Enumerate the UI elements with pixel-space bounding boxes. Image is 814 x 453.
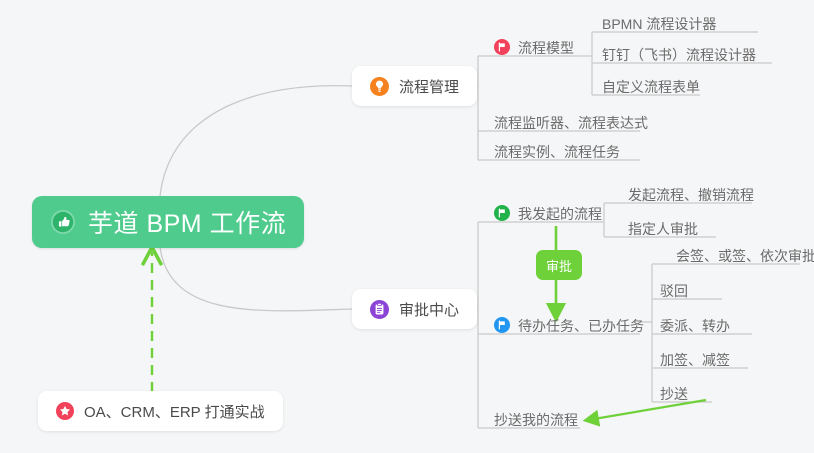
branch-label-process-management: 流程管理	[399, 76, 459, 97]
leaf-label-delegate-transfer: 委派、转办	[660, 319, 730, 333]
thumbs-up-icon	[50, 209, 76, 235]
leaf-label-custom-process-form: 自定义流程表单	[602, 80, 700, 94]
mindmap-canvas: 芋道 BPM 工作流 流程管理 流程模型 BPMN 流程设计器 钉	[0, 0, 814, 453]
leaf-node-delegate-transfer[interactable]: 委派、转办	[652, 312, 738, 338]
leaf-label-cc: 抄送	[660, 387, 688, 401]
flag-blue-icon	[494, 317, 510, 333]
leaf-label-countersign: 会签、或签、依次审批	[676, 249, 814, 263]
leaf-node-my-initiated-processes[interactable]: 我发起的流程	[486, 200, 610, 226]
leaf-label-my-initiated-processes: 我发起的流程	[518, 207, 602, 221]
leaf-node-process-listener-expression[interactable]: 流程监听器、流程表达式	[486, 109, 656, 135]
leaf-label-dingtalk-feishu-designer: 钉钉（飞书）流程设计器	[602, 48, 756, 62]
callout-badge-approval: 审批	[536, 250, 582, 280]
leaf-node-process-instance-task[interactable]: 流程实例、流程任务	[486, 138, 628, 164]
leaf-label-add-remove-signer: 加签、减签	[660, 353, 730, 367]
leaf-label-process-listener-expression: 流程监听器、流程表达式	[494, 116, 648, 130]
leaf-label-cc-to-me-processes: 抄送我的流程	[494, 413, 578, 427]
leaf-label-start-cancel-process: 发起流程、撤销流程	[628, 188, 754, 202]
wire-root-to-approval-center	[160, 247, 352, 311]
root-label: 芋道 BPM 工作流	[88, 204, 286, 240]
leaf-label-bpmn-designer: BPMN 流程设计器	[602, 17, 716, 31]
leaf-node-designated-approver[interactable]: 指定人审批	[620, 215, 706, 241]
leaf-label-process-instance-task: 流程实例、流程任务	[494, 145, 620, 159]
leaf-label-todo-done-tasks: 待办任务、已办任务	[518, 319, 644, 333]
flag-green-icon	[494, 205, 510, 221]
callout-badge-label: 审批	[546, 256, 572, 275]
footnote-label: OA、CRM、ERP 打通实战	[84, 401, 265, 422]
flag-red-icon	[494, 39, 510, 55]
clipboard-icon	[370, 300, 389, 319]
branch-node-approval-center[interactable]: 审批中心	[352, 289, 477, 329]
leaf-node-custom-process-form[interactable]: 自定义流程表单	[594, 73, 708, 99]
leaf-node-todo-done-tasks[interactable]: 待办任务、已办任务	[486, 312, 652, 338]
footnote-node[interactable]: OA、CRM、ERP 打通实战	[38, 391, 283, 431]
leaf-node-reject[interactable]: 驳回	[652, 277, 696, 303]
leaf-node-add-remove-signer[interactable]: 加签、减签	[652, 346, 738, 372]
leaf-label-process-model: 流程模型	[518, 41, 574, 55]
leaf-node-cc[interactable]: 抄送	[652, 380, 696, 406]
branch-node-process-management[interactable]: 流程管理	[352, 66, 477, 106]
leaf-node-bpmn-designer[interactable]: BPMN 流程设计器	[594, 10, 724, 36]
star-icon	[56, 402, 74, 420]
leaf-node-process-model[interactable]: 流程模型	[486, 34, 582, 60]
leaf-node-dingtalk-feishu-designer[interactable]: 钉钉（飞书）流程设计器	[594, 41, 764, 67]
leaf-label-reject: 驳回	[660, 284, 688, 298]
leaf-node-start-cancel-process[interactable]: 发起流程、撤销流程	[620, 181, 762, 207]
leaf-node-countersign[interactable]: 会签、或签、依次审批	[668, 242, 814, 268]
branch-label-approval-center: 审批中心	[399, 299, 459, 320]
wire-root-to-process-management	[160, 86, 352, 196]
leaf-label-designated-approver: 指定人审批	[628, 222, 698, 236]
root-node[interactable]: 芋道 BPM 工作流	[32, 196, 304, 248]
leaf-node-cc-to-me-processes[interactable]: 抄送我的流程	[486, 406, 586, 432]
lightbulb-icon	[370, 77, 389, 96]
